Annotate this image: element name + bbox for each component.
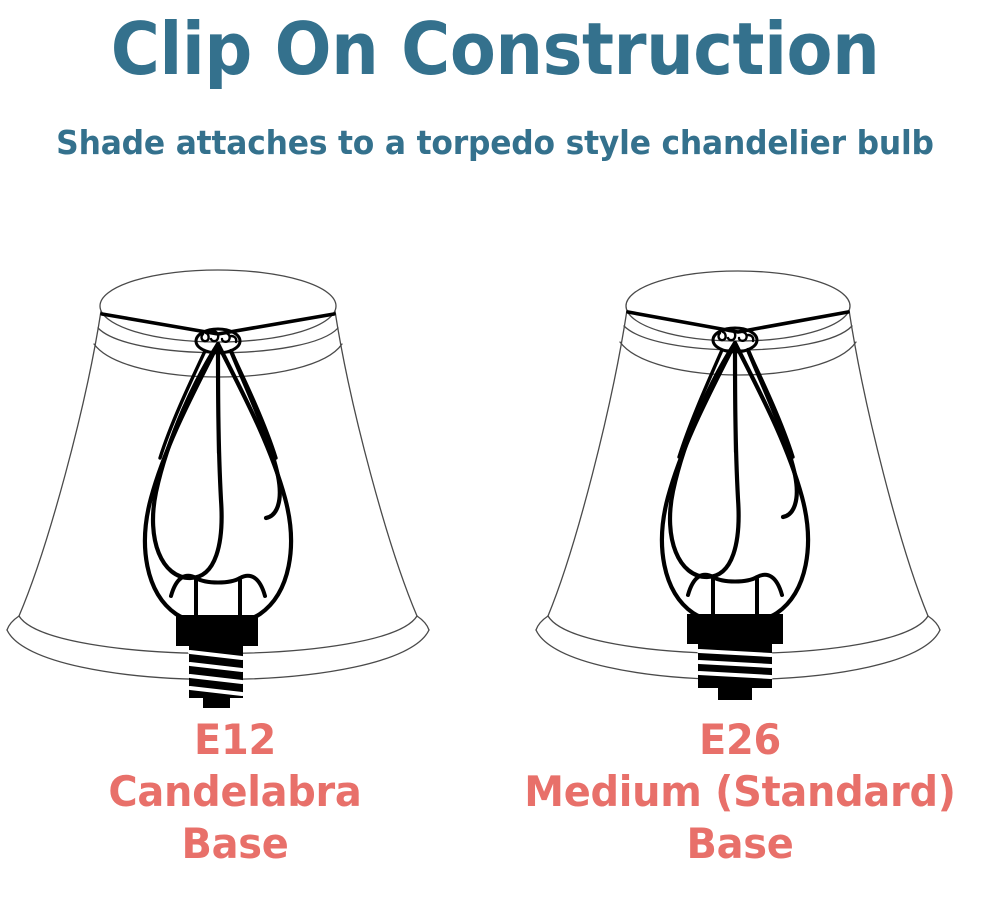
shade-bottom-right-edge (928, 616, 940, 630)
clip-leg-left (160, 351, 205, 458)
bulb-base-contact-tip (718, 686, 752, 700)
clip-crossbar-wire (102, 314, 334, 334)
page-subtitle: Shade attaches to a torpedo style chande… (25, 122, 966, 164)
clip-spring-loop (153, 344, 222, 578)
shade-right-side (335, 311, 417, 616)
shade-top-ellipse (100, 270, 336, 342)
figure-e26-shade-illustration (520, 248, 990, 708)
shade-bottom-left-edge (536, 616, 548, 630)
lamp-shade-e26-drawing (520, 248, 990, 708)
caption-e12-line-2: Candelabra (12, 766, 459, 818)
caption-e12-line-3: Base (12, 818, 459, 870)
bulb-base-collar (687, 614, 783, 644)
caption-e26: E26 Medium (Standard) Base (505, 714, 975, 870)
bulb-base-collar (176, 615, 258, 646)
clip-spring-loop (670, 343, 739, 577)
caption-e26-line-3: Base (517, 818, 964, 870)
shade-left-side (19, 311, 101, 616)
caption-e12: E12 Candelabra Base (0, 714, 470, 870)
shade-left-side (548, 310, 627, 616)
figure-e12-shade-illustration (0, 248, 460, 708)
shade-bottom-left-edge (7, 616, 19, 630)
clip-on-construction-infographic: Clip On Construction Shade attaches to a… (0, 0, 990, 902)
caption-e26-line-2: Medium (Standard) (517, 766, 964, 818)
lamp-shade-e12-drawing (0, 248, 460, 708)
page-title: Clip On Construction (35, 6, 956, 92)
shade-bottom-right-edge (417, 616, 429, 630)
bulb-base-contact-tip (203, 696, 230, 708)
shade-right-side (849, 310, 928, 616)
caption-e26-line-1: E26 (517, 714, 964, 766)
caption-e12-line-1: E12 (12, 714, 459, 766)
